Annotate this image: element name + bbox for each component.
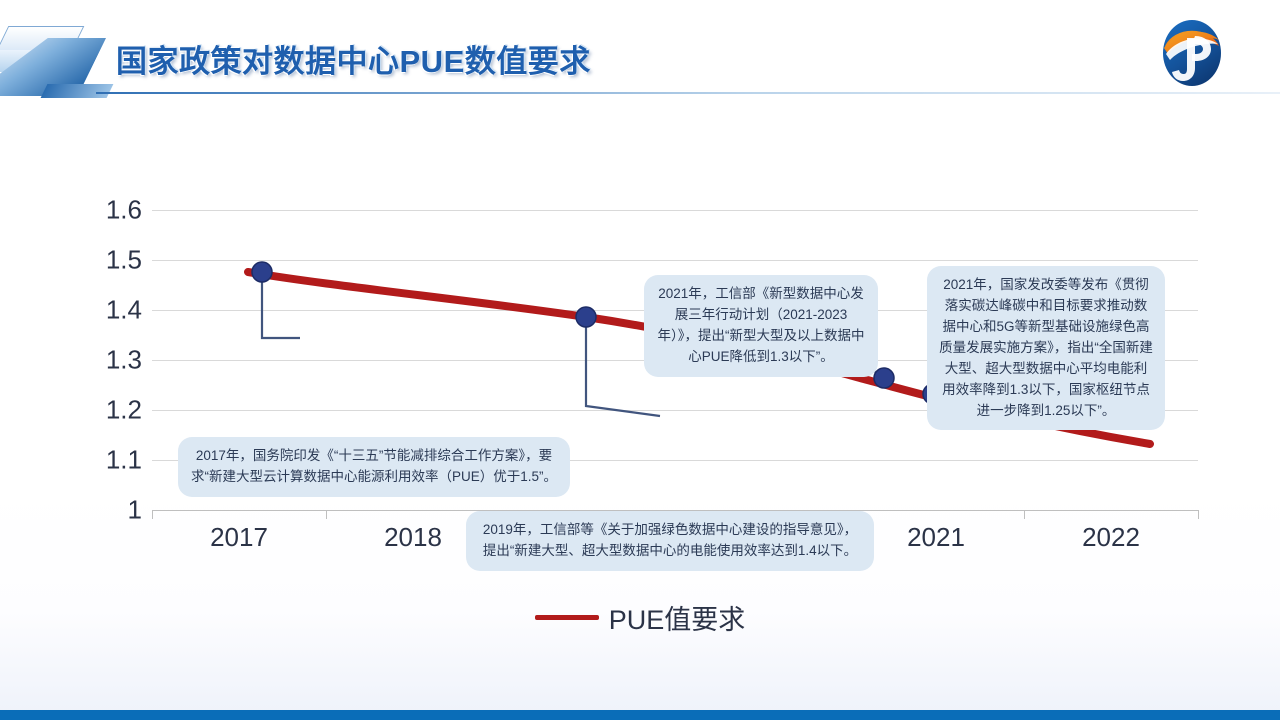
company-logo-icon (1161, 18, 1223, 88)
data-point-marker (252, 262, 272, 282)
legend-line-swatch (535, 615, 599, 620)
data-point-marker (576, 307, 596, 327)
chart-legend: PUE值要求 (0, 598, 1280, 637)
legend-label: PUE值要求 (609, 598, 746, 637)
header-decoration (0, 22, 110, 100)
callout-1-leader (262, 276, 300, 338)
data-point-marker (874, 368, 894, 388)
callout-box-2021-ndrc: 2021年，国家发改委等发布《贯彻落实碳达峰碳中和目标要求推动数据中心和5G等新… (927, 266, 1165, 430)
bottom-accent-bar (0, 710, 1280, 720)
callout-box-2021-miit: 2021年，工信部《新型数据中心发展三年行动计划（2021-2023年）》，提出… (644, 275, 878, 377)
callout-box-2017: 2017年，国务院印发《“十三五”节能减排综合工作方案》，要求“新建大型云计算数… (178, 437, 570, 497)
callout-box-2019: 2019年，工信部等《关于加强绿色数据中心建设的指导意见》，提出“新建大型、超大… (466, 511, 874, 571)
pue-line-chart: 1.6 1.5 1.4 1.3 1.2 1.1 1 2017 2018 2019 (0, 100, 1280, 660)
decoration-tail-shape (41, 84, 114, 98)
page-title: 国家政策对数据中心PUE数值要求 (116, 36, 591, 81)
slide: 国家政策对数据中心PUE数值要求 (0, 0, 1280, 720)
header-divider (96, 92, 1280, 94)
slide-header: 国家政策对数据中心PUE数值要求 (0, 0, 1280, 100)
